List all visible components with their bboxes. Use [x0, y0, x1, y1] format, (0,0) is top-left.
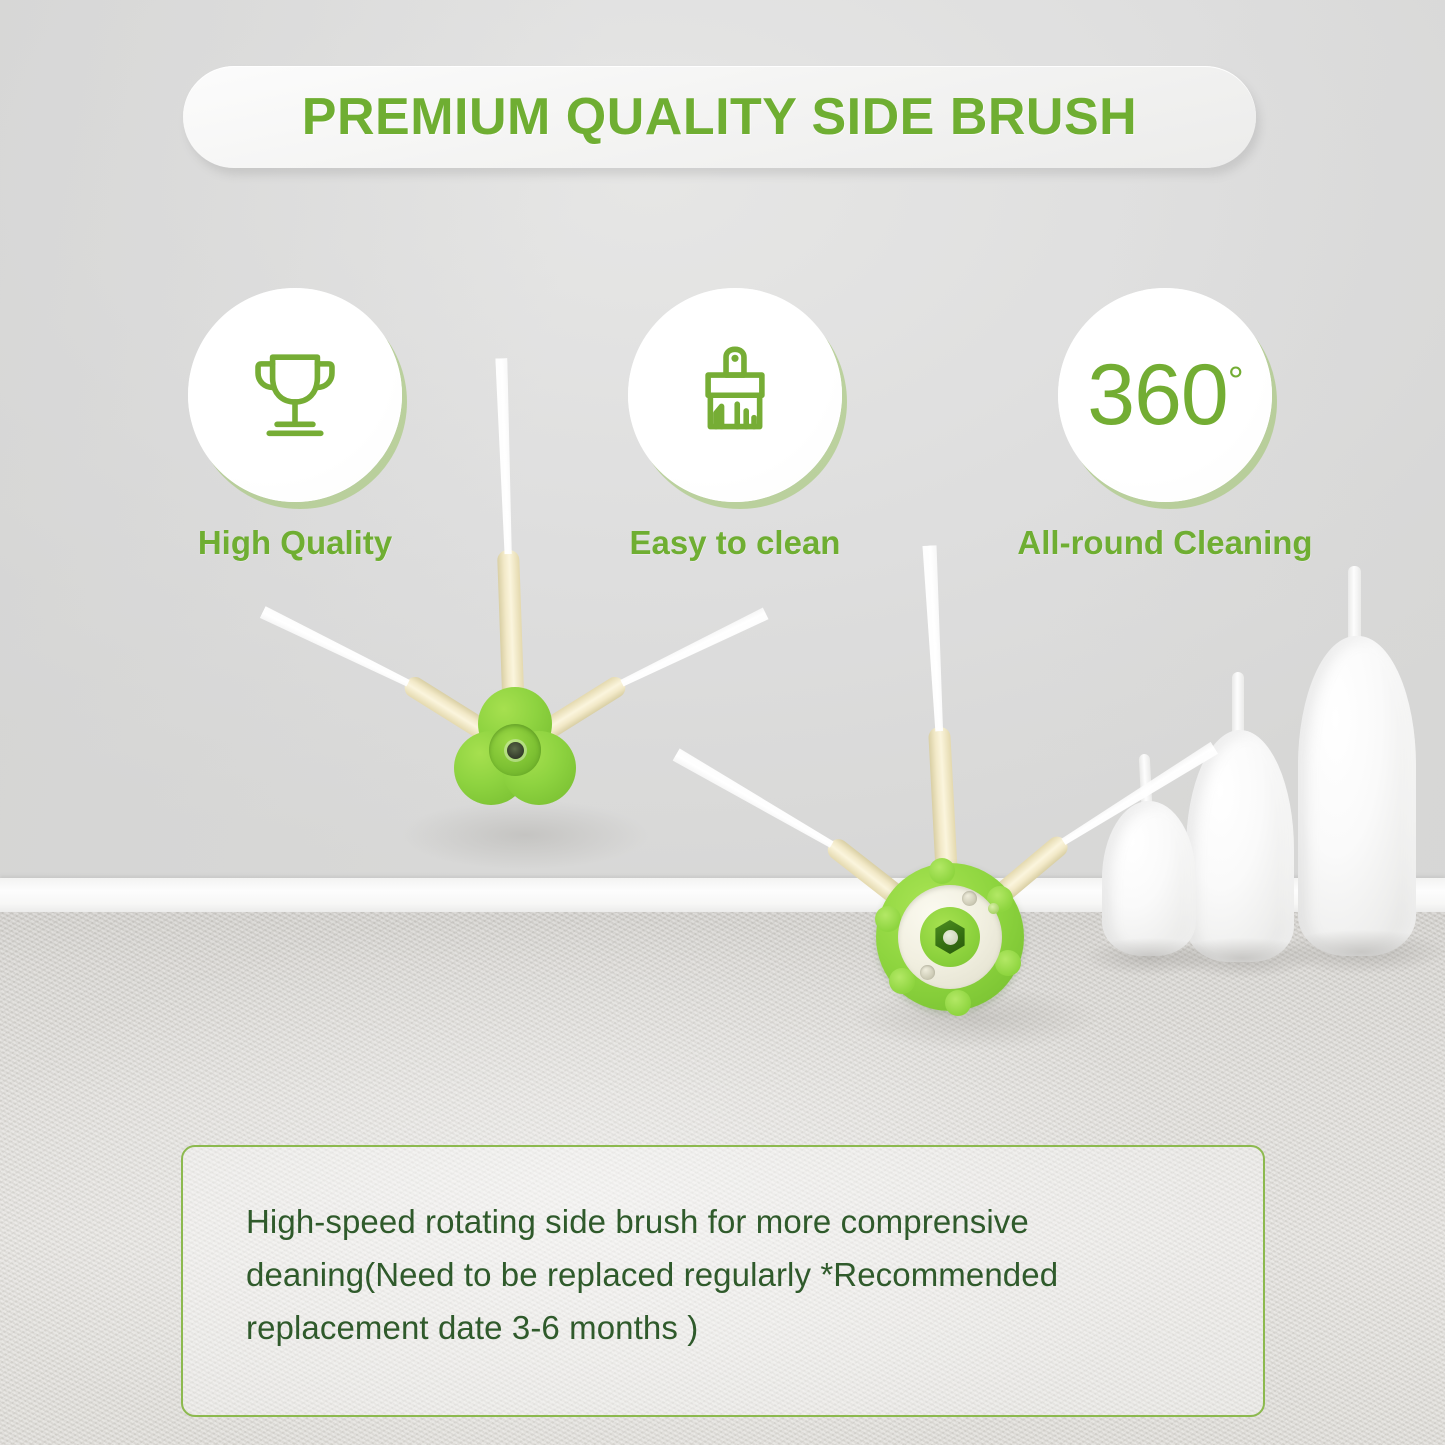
trophy-icon [239, 337, 351, 454]
title-banner: PREMIUM QUALITY SIDE BRUSH [183, 66, 1256, 168]
vase-tall [1298, 566, 1416, 956]
vase-body [1298, 636, 1416, 956]
paint-brush-icon [679, 337, 791, 454]
hub-axle-hole [507, 742, 524, 759]
hub-screw [920, 965, 935, 980]
feature-badge [188, 288, 402, 502]
feature-all-round-cleaning: 360° All-round Cleaning [1035, 288, 1295, 562]
feature-badge [628, 288, 842, 502]
feature-label: Easy to clean [630, 524, 841, 562]
brush-hub [449, 684, 581, 816]
product-marketing-image: PREMIUM QUALITY SIDE BRUSH High Quality [0, 0, 1445, 1445]
vase-body [1102, 801, 1196, 956]
brush-hub [876, 863, 1024, 1011]
caption-text: High-speed rotating side brush for more … [246, 1195, 1211, 1354]
vase-medium [1186, 672, 1294, 962]
hub-hex-center [943, 930, 958, 945]
feature-badge: 360° [1058, 288, 1272, 502]
feature-label: High Quality [198, 524, 392, 562]
vase-body [1186, 730, 1294, 962]
feature-high-quality: High Quality [165, 288, 425, 562]
vase-small-shadow [1084, 938, 1216, 976]
hub-pin [988, 903, 999, 914]
degree-text: 360° [1087, 352, 1243, 438]
feature-label: All-round Cleaning [1017, 524, 1312, 562]
feature-easy-to-clean: Easy to clean [605, 288, 865, 562]
hub-screw [962, 891, 977, 906]
page-title: PREMIUM QUALITY SIDE BRUSH [302, 87, 1137, 147]
